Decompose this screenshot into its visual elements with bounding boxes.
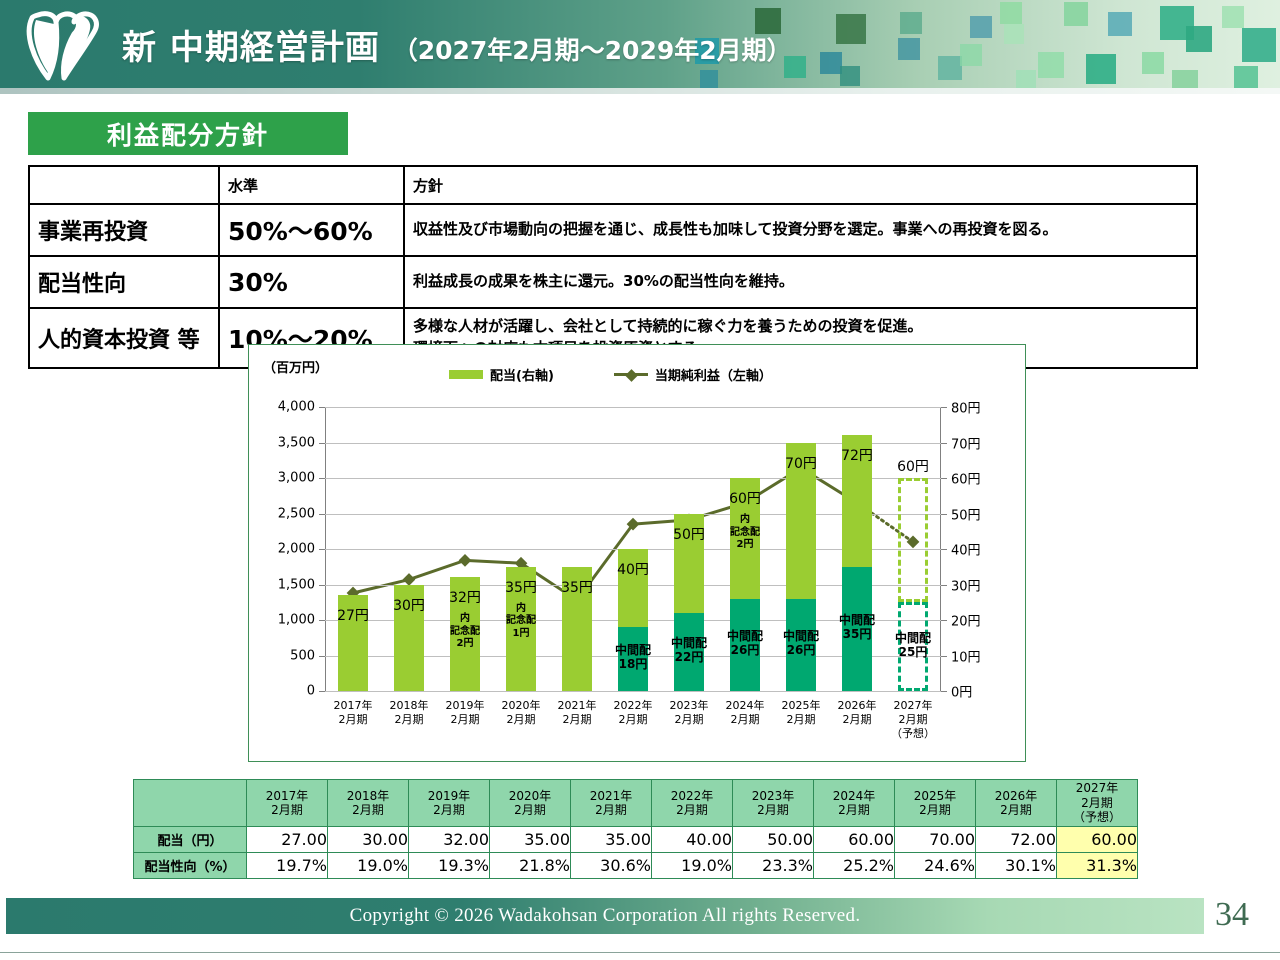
slide: 新 中期経営計画 （2027年2月期～2029年2月期） 利益配分方針 水準 方… [0,0,1280,960]
dividend-bar-interim-label: 中間配35円 [839,613,875,642]
left-axis-tick [319,407,325,408]
x-axis-label: 2023年2月期 [670,699,709,727]
table-cell: 60.00 [1057,827,1138,853]
dividend-bar [842,435,872,691]
table-cell: 30.6% [571,853,652,879]
dividend-data-table: 2017年2月期2018年2月期2019年2月期2020年2月期2021年2月期… [133,779,1138,879]
policy-desc-2-line1: 多様な人材が活躍し、会社として持続的に稼ぐ力を養うための投資を促進。 [413,316,1188,338]
left-axis-tick [319,585,325,586]
table-cell: 70.00 [895,827,976,853]
page-number: 34 [1215,896,1249,934]
policy-level-1: 30% [219,256,404,308]
table-column-header: 2024年2月期 [814,780,895,827]
dividend-bar-note: 内記念配2円 [449,613,481,651]
chart-plot-area: 05001,0001,5002,0002,5003,0003,5004,0000… [325,407,941,691]
table-row: 配当（円）27.0030.0032.0035.0035.0040.0050.00… [134,827,1138,853]
table-cell: 50.00 [733,827,814,853]
left-axis-label: 2,500 [278,506,315,521]
decor-square [1142,52,1164,74]
table-cell: 72.00 [976,827,1057,853]
profit-line-marker [459,554,472,567]
decor-square [1222,6,1244,28]
legend-label-dividend: 配当(右軸) [490,365,554,384]
table-cell: 19.0% [652,853,733,879]
table-row-header: 配当（円） [134,827,247,853]
table-cell: 21.8% [490,853,571,879]
x-axis-label: 2027年2月期（予想） [891,699,935,740]
left-axis-label: 1,000 [278,613,315,628]
section-badge: 利益配分方針 [28,112,348,155]
decor-square [1234,66,1258,88]
left-axis-tick [319,656,325,657]
decor-square [900,12,922,34]
table-column-header: 2019年2月期 [409,780,490,827]
chart-unit-label: （百万円） [263,357,328,376]
right-axis-label: 20円 [951,611,981,630]
left-axis-tick [319,691,325,692]
policy-desc-1: 利益成長の成果を株主に還元。30%の配当性向を維持。 [404,256,1197,308]
right-axis-tick [941,620,947,621]
left-axis-label: 1,500 [278,577,315,592]
legend-item-dividend: 配当(右軸) [449,365,554,384]
policy-header-level: 水準 [219,166,404,204]
table-column-header: 2022年2月期 [652,780,733,827]
table-column-header: 2020年2月期 [490,780,571,827]
slide-bottom-edge [0,952,1280,953]
table-header-row: 2017年2月期2018年2月期2019年2月期2020年2月期2021年2月期… [134,780,1138,827]
dividend-bar-interim-label: 中間配25円 [895,631,931,660]
table-cell: 24.6% [895,853,976,879]
right-axis-label: 10円 [951,646,981,665]
table-row: 配当性向 30% 利益成長の成果を株主に還元。30%の配当性向を維持。 [29,256,1197,308]
page-title-sub: （2027年2月期～2029年2月期） [393,36,792,65]
decor-square [836,14,866,44]
policy-table: 水準 方針 事業再投資 50%～60% 収益性及び市場動向の把握を通じ、成長性も… [28,165,1198,369]
legend-swatch-line [614,373,648,376]
table-column-header: 2026年2月期 [976,780,1057,827]
table-column-header: 2027年2月期（予想） [1057,780,1138,827]
page-title-main: 新 中期経営計画 [122,28,380,68]
slide-footer: Copyright © 2026 Wadakohsan Corporation … [6,898,1204,934]
table-cell: 40.00 [652,827,733,853]
x-axis-label: 2024年2月期 [726,699,765,727]
right-axis-tick [941,407,947,408]
table-cell: 19.7% [247,853,328,879]
policy-level-0: 50%～60% [219,204,404,256]
wadakohsan-w-logo [22,8,106,82]
chart-legend: 配当(右軸) 当期純利益（左軸） [449,365,772,384]
decor-square [700,70,718,88]
decor-square [960,44,982,66]
decor-square [898,38,920,60]
table-cell: 32.00 [409,827,490,853]
page-title: 新 中期経営計画 （2027年2月期～2029年2月期） [122,20,792,69]
profit-line-solid [353,468,857,600]
decor-square [1186,26,1212,52]
right-axis-label: 40円 [951,540,981,559]
policy-name-2: 人的資本投資 等 [29,308,219,368]
table-row: 事業再投資 50%～60% 収益性及び市場動向の把握を通じ、成長性も加味して投資… [29,204,1197,256]
table-cell: 19.0% [328,853,409,879]
policy-header-policy: 方針 [404,166,1197,204]
decor-square [1064,2,1088,26]
x-axis-label: 2022年2月期 [614,699,653,727]
decor-square [1016,70,1036,88]
table-cell: 25.2% [814,853,895,879]
dividend-bar-label: 60円 [897,456,929,476]
table-cell: 31.3% [1057,853,1138,879]
right-axis-tick [941,691,947,692]
left-axis-label: 500 [290,648,315,663]
policy-desc-0: 収益性及び市場動向の把握を通じ、成長性も加味して投資分野を選定。事業への再投資を… [404,204,1197,256]
dividend-bar-interim-label: 中間配22円 [671,636,707,665]
dividend-bar-label: 70円 [785,453,817,473]
decor-square [1108,12,1132,36]
dividend-bar-label: 50円 [673,524,705,544]
left-axis-tick [319,620,325,621]
dividend-bar-label: 40円 [617,559,649,579]
right-axis-label: 30円 [951,575,981,594]
decor-square [1242,28,1276,62]
table-column-header: 2021年2月期 [571,780,652,827]
table-row: 水準 方針 [29,166,1197,204]
left-axis-tick [319,443,325,444]
right-axis-tick [941,478,947,479]
decor-square [1172,70,1198,88]
decor-square [970,16,992,38]
table-cell: 60.00 [814,827,895,853]
dividend-bar-interim-label: 中間配26円 [727,629,763,658]
dividend-bar-label: 27円 [337,605,369,625]
dividend-bar-note: 内記念配2円 [729,514,761,552]
dividend-bar-interim-label: 中間配26円 [783,629,819,658]
left-axis-tick [319,514,325,515]
policy-header-blank [29,166,219,204]
dividend-bar-label: 35円 [561,577,593,597]
legend-label-profit: 当期純利益（左軸） [655,365,772,384]
right-axis-label: 80円 [951,398,981,417]
table-cell: 19.3% [409,853,490,879]
right-axis-label: 70円 [951,433,981,452]
dividend-bar-label: 72円 [841,445,873,465]
right-axis-label: 50円 [951,504,981,523]
header-shadow [0,88,1280,94]
decor-square [938,56,962,80]
dividend-bar-label: 30円 [393,595,425,615]
right-axis-tick [941,656,947,657]
table-cell: 30.1% [976,853,1057,879]
dividend-bar-year-end-segment [898,478,928,602]
legend-item-profit: 当期純利益（左軸） [614,365,772,384]
table-column-header: 2023年2月期 [733,780,814,827]
dividend-bar-label: 35円内記念配1円 [505,577,537,641]
decor-square [1004,24,1024,44]
right-axis-tick [941,443,947,444]
right-axis-label: 60円 [951,469,981,488]
policy-name-0: 事業再投資 [29,204,219,256]
right-axis-tick [941,585,947,586]
table-column-header: 2018年2月期 [328,780,409,827]
legend-swatch-bar [449,370,483,379]
left-axis-tick [319,549,325,550]
x-axis-label: 2026年2月期 [838,699,877,727]
x-axis-label: 2025年2月期 [782,699,821,727]
grid-line [325,407,941,408]
copyright-text: Copyright © 2026 Wadakohsan Corporation … [6,898,1204,934]
dividend-bar-label: 60円内記念配2円 [729,488,761,552]
left-axis-label: 3,000 [278,471,315,486]
decor-square [1000,2,1022,24]
right-axis-label: 0円 [951,682,972,701]
table-cell: 35.00 [571,827,652,853]
dividend-bar-label: 32円内記念配2円 [449,587,481,651]
table-column-header: 2025年2月期 [895,780,976,827]
table-cell: 35.00 [490,827,571,853]
table-cell: 30.00 [328,827,409,853]
x-axis-label: 2021年2月期 [558,699,597,727]
policy-name-1: 配当性向 [29,256,219,308]
table-cell: 27.00 [247,827,328,853]
x-axis-label: 2020年2月期 [502,699,541,727]
dividend-bar-note: 内記念配1円 [505,603,537,641]
dividend-profit-chart: （百万円） 配当(右軸) 当期純利益（左軸） 05001,0001,5002,0… [248,344,1026,762]
dividend-bar-interim-label: 中間配18円 [615,643,651,672]
left-axis-label: 3,500 [278,435,315,450]
left-axis-label: 4,000 [278,400,315,415]
right-axis-tick [941,549,947,550]
table-corner-cell [134,780,247,827]
table-row-header: 配当性向（%） [134,853,247,879]
slide-header: 新 中期経営計画 （2027年2月期～2029年2月期） [0,0,1280,88]
right-axis-tick [941,514,947,515]
decor-square [840,66,860,86]
table-cell: 23.3% [733,853,814,879]
grid-line [325,691,941,692]
x-axis-label: 2019年2月期 [446,699,485,727]
left-axis-label: 0 [307,684,315,699]
x-axis-label: 2018年2月期 [390,699,429,727]
decor-square [820,52,842,74]
left-axis-label: 2,000 [278,542,315,557]
x-axis-label: 2017年2月期 [334,699,373,727]
decor-square [1038,52,1064,78]
left-axis-tick [319,478,325,479]
table-row: 配当性向（%）19.7%19.0%19.3%21.8%30.6%19.0%23.… [134,853,1138,879]
decor-square [1086,54,1116,84]
table-column-header: 2017年2月期 [247,780,328,827]
